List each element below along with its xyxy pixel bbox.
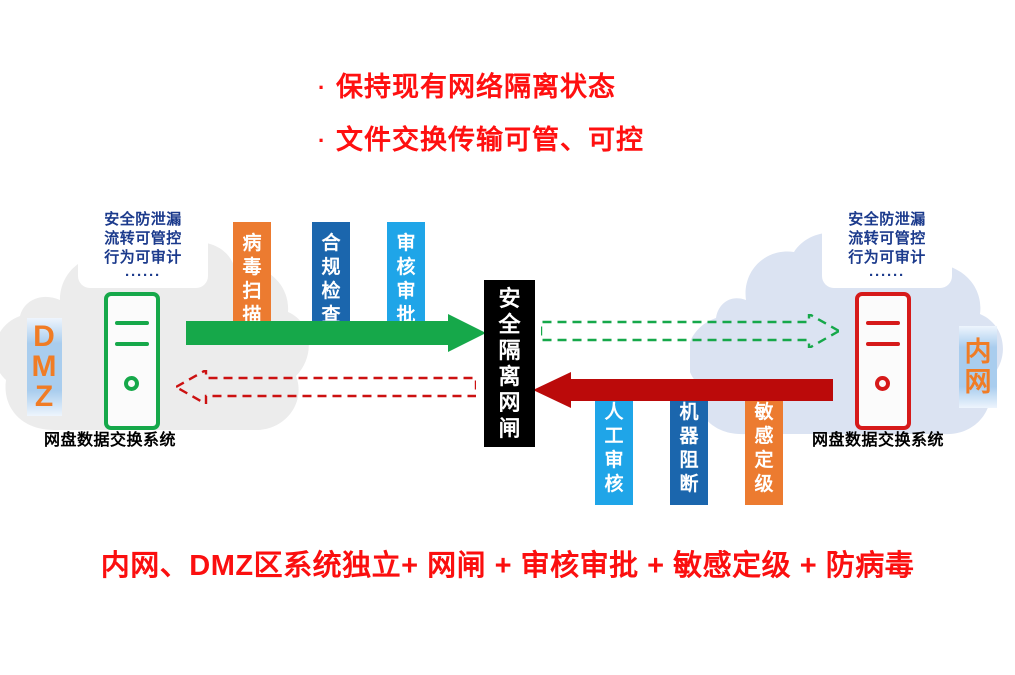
intranet-char-2: 网: [965, 367, 992, 397]
bullet-text-2: 文件交换传输可管、可控: [336, 127, 644, 154]
badge-char: 审: [396, 280, 415, 304]
badge-char: 定: [754, 449, 773, 473]
server-bar-2: [115, 342, 149, 346]
server-led-icon: [124, 376, 139, 391]
badge-char: 器: [679, 425, 698, 449]
intranet-callout-line-1: 安全防泄漏: [831, 210, 943, 229]
bullet-list: · 保持现有网络隔离状态 · 文件交换传输可管、可控: [318, 74, 918, 180]
badge-char: 工: [604, 425, 623, 449]
gateway-char: 网: [498, 390, 520, 416]
badge-char: 合: [321, 232, 340, 256]
dmz-callout-dots: ······: [87, 269, 199, 282]
badge-char: 扫: [242, 280, 261, 304]
intranet-callout-line-3: 行为可审计: [831, 248, 943, 267]
badge-char: 毒: [242, 256, 261, 280]
arrow-outbound-solid: [186, 314, 486, 352]
bullet-marker-icon: ·: [318, 130, 336, 152]
server-bar-2: [866, 342, 900, 346]
dmz-zone-box: D M Z: [27, 318, 62, 416]
badge-machine-block[interactable]: 机 器 阻 断: [670, 392, 708, 505]
intranet-char-1: 内: [965, 337, 992, 367]
server-led-icon: [875, 376, 890, 391]
dmz-system-caption: 网盘数据交换系统: [44, 426, 176, 450]
summary-caption: 内网、DMZ区系统独立+ 网闸 + 审核审批 + 敏感定级 + 防病毒: [0, 549, 1015, 583]
server-frame: [855, 292, 911, 430]
intranet-zone-box: 内 网: [959, 326, 997, 408]
gateway-char: 离: [498, 364, 520, 390]
badge-sensitivity-grading[interactable]: 敏 感 定 级: [745, 392, 783, 505]
intranet-callout-dots: ······: [831, 269, 943, 282]
gateway-char: 安: [498, 286, 520, 312]
badge-char: 核: [396, 256, 415, 280]
bullet-item-1: · 保持现有网络隔离状态: [318, 74, 918, 101]
bullet-marker-icon: ·: [318, 77, 336, 99]
badge-char: 审: [604, 449, 623, 473]
intranet-server-icon: [855, 292, 911, 430]
dmz-server-icon: [104, 292, 160, 430]
bullet-item-2: · 文件交换传输可管、可控: [318, 127, 918, 154]
badge-char: 断: [679, 473, 698, 497]
badge-char: 规: [321, 256, 340, 280]
gateway-char: 闸: [498, 416, 520, 442]
arrow-return-solid: [533, 372, 833, 408]
diagram-canvas: · 保持现有网络隔离状态 · 文件交换传输可管、可控 D M Z 安全防泄漏 流…: [0, 0, 1015, 675]
arrow-inbound-dashed: [176, 370, 476, 404]
badge-char: 病: [242, 232, 261, 256]
intranet-callout-line-2: 流转可管控: [831, 229, 943, 248]
dmz-letter-z: Z: [35, 382, 54, 412]
badge-manual-review[interactable]: 人 工 审 核: [595, 392, 633, 505]
server-frame: [104, 292, 160, 430]
gateway-char: 隔: [498, 338, 520, 364]
arrow-return-dashed: [541, 314, 839, 348]
badge-char: 审: [396, 232, 415, 256]
bullet-text-1: 保持现有网络隔离状态: [336, 74, 616, 101]
server-bar-1: [115, 321, 149, 325]
badge-char: 检: [321, 280, 340, 304]
dmz-callout-line-3: 行为可审计: [87, 248, 199, 267]
server-bar-1: [866, 321, 900, 325]
dmz-letter-d: D: [33, 322, 56, 352]
badge-char: 核: [604, 473, 623, 497]
intranet-callout-bubble: 安全防泄漏 流转可管控 行为可审计 ······: [822, 203, 952, 288]
badge-char: 阻: [679, 449, 698, 473]
dmz-callout-line-1: 安全防泄漏: [87, 210, 199, 229]
badge-char: 感: [754, 425, 773, 449]
dmz-callout-bubble: 安全防泄漏 流转可管控 行为可审计 ······: [78, 203, 208, 288]
badge-char: 级: [754, 473, 773, 497]
gateway-char: 全: [498, 312, 520, 338]
dmz-callout-line-2: 流转可管控: [87, 229, 199, 248]
security-gateway-box[interactable]: 安 全 隔 离 网 闸: [484, 280, 535, 447]
dmz-letter-m: M: [32, 352, 58, 382]
intranet-system-caption: 网盘数据交换系统: [812, 426, 944, 450]
